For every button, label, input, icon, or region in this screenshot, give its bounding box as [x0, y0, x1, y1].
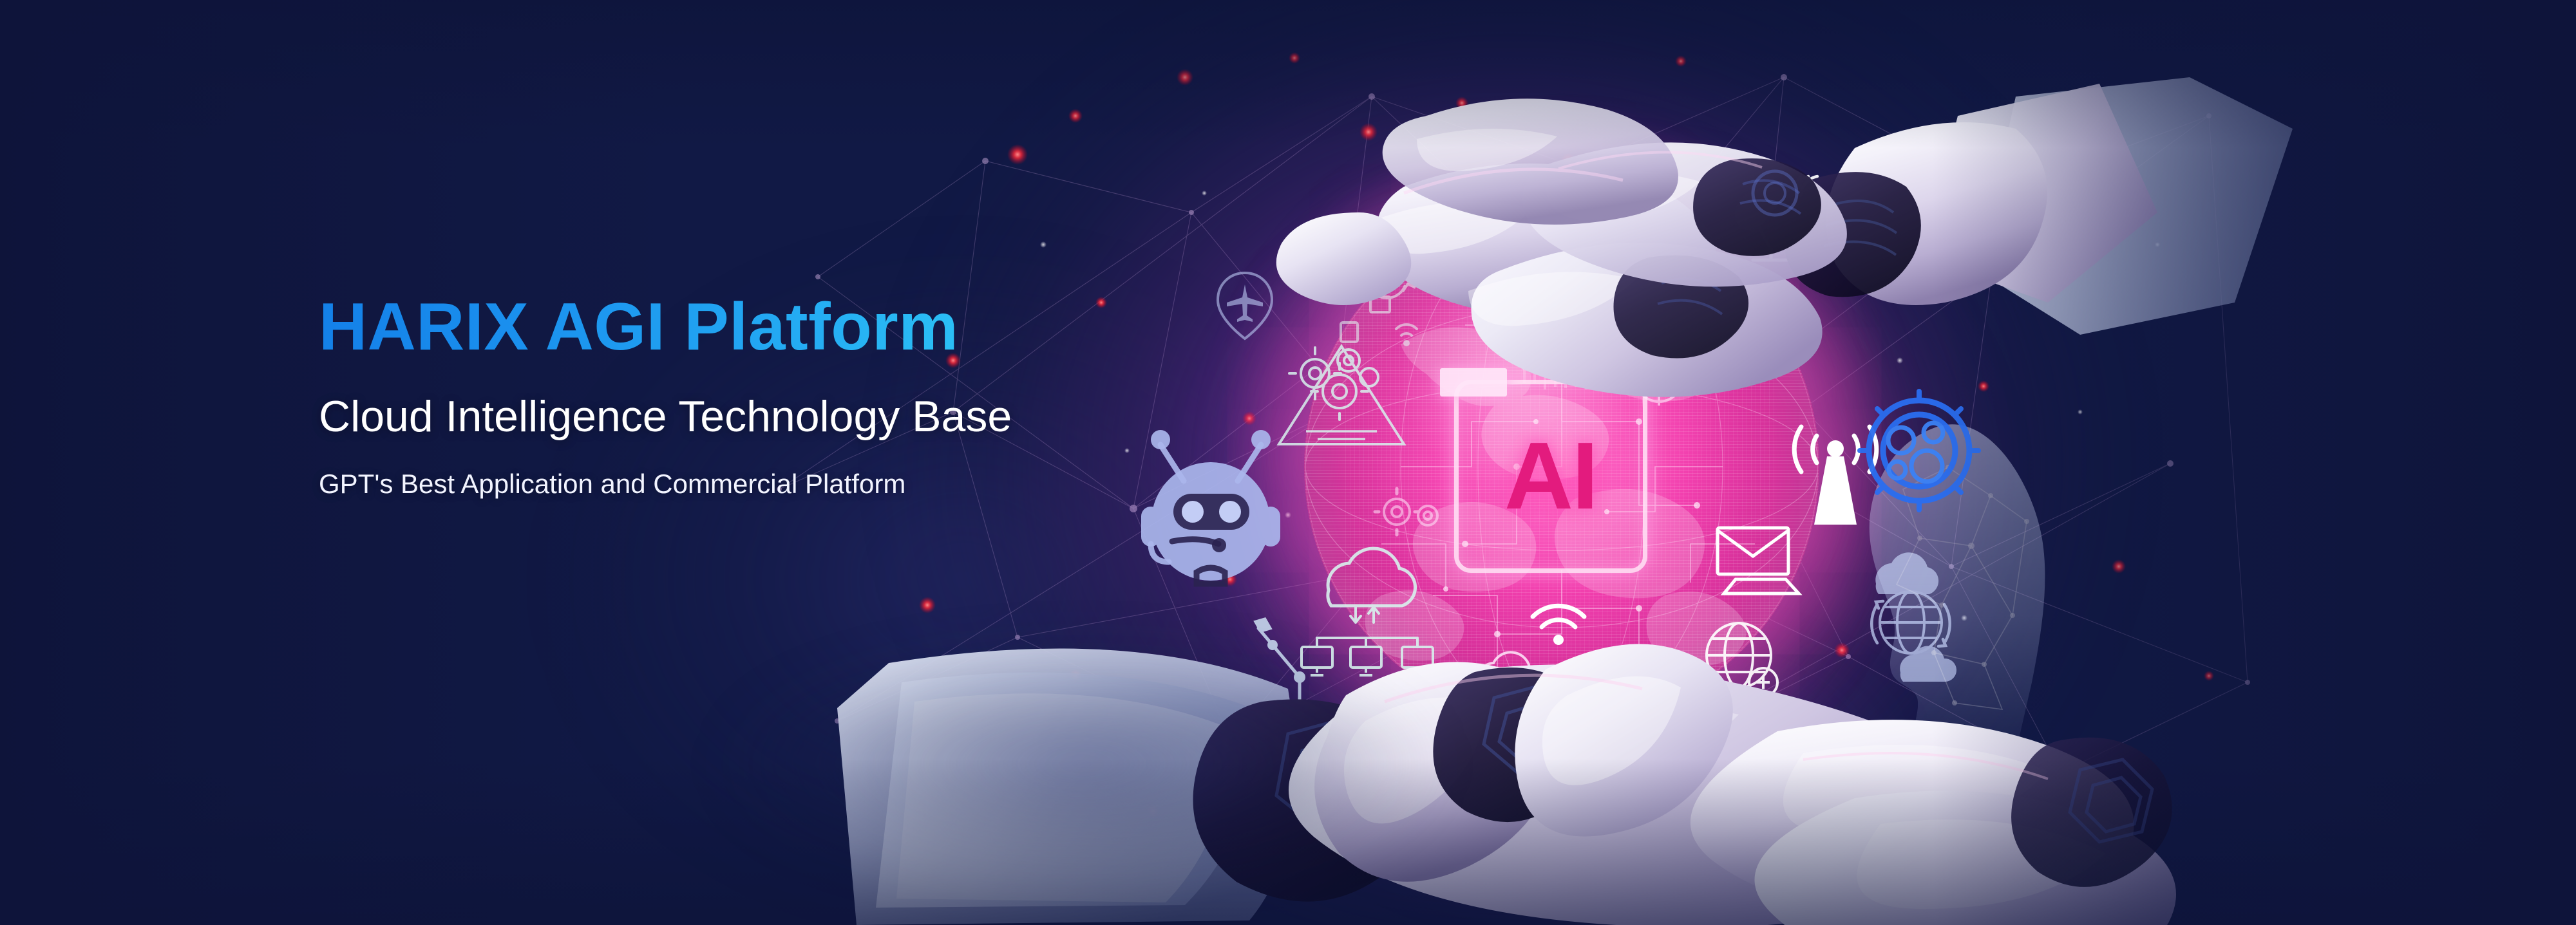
hero-banner: AI — [0, 0, 2576, 925]
ai-chip-badge: AI — [1454, 380, 1647, 573]
hero-copy: HARIX AGI Platform Cloud Intelligence Te… — [319, 291, 1220, 499]
page-title: HARIX AGI Platform — [319, 291, 1220, 363]
page-subtitle: Cloud Intelligence Technology Base — [319, 393, 1220, 441]
ai-chip-label: AI — [1454, 380, 1647, 573]
page-tagline: GPT's Best Application and Commercial Pl… — [319, 469, 1220, 499]
